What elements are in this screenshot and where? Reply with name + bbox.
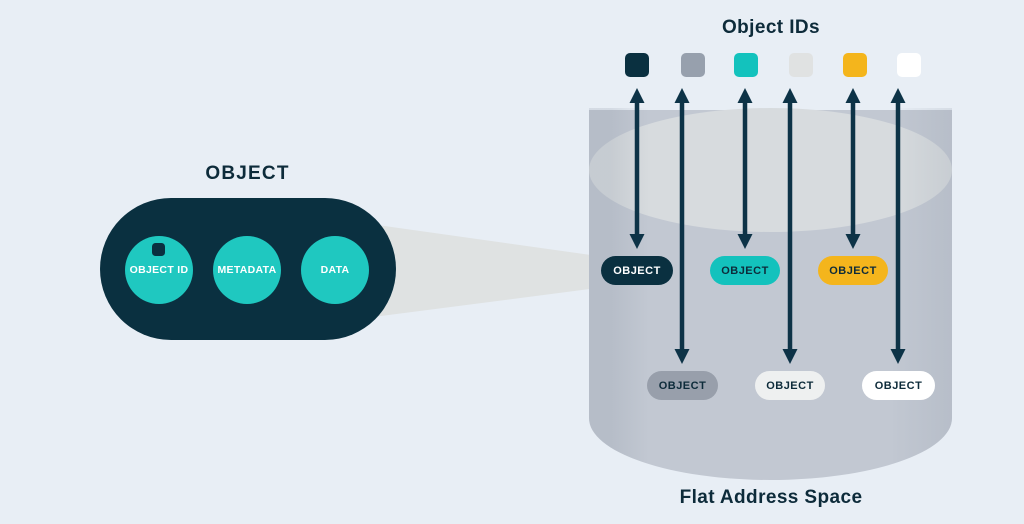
object-pill-yellow-label: OBJECT xyxy=(829,265,877,277)
diagram-canvas: OBJECT OBJECT ID METADATA DATA Object ID… xyxy=(0,0,1024,524)
object-pill-teal: OBJECT xyxy=(710,256,780,285)
arrow-navy xyxy=(630,88,645,249)
object-pill-light-gray: OBJECT xyxy=(755,371,825,400)
object-pill-gray: OBJECT xyxy=(647,371,718,400)
flat-address-space-title: Flat Address Space xyxy=(589,487,953,509)
arrow-light-gray xyxy=(783,88,798,364)
arrow-gray xyxy=(675,88,690,364)
object-pill-yellow: OBJECT xyxy=(818,256,888,285)
object-pill-white-label: OBJECT xyxy=(875,380,923,392)
object-pill-white: OBJECT xyxy=(862,371,935,400)
arrow-yellow xyxy=(846,88,861,249)
object-pill-navy-label: OBJECT xyxy=(613,265,661,277)
object-pill-teal-label: OBJECT xyxy=(721,265,769,277)
object-pill-gray-label: OBJECT xyxy=(659,380,707,392)
object-pill-light-gray-label: OBJECT xyxy=(766,380,814,392)
arrow-teal xyxy=(738,88,753,249)
object-pill-navy: OBJECT xyxy=(601,256,673,285)
arrow-white xyxy=(891,88,906,364)
